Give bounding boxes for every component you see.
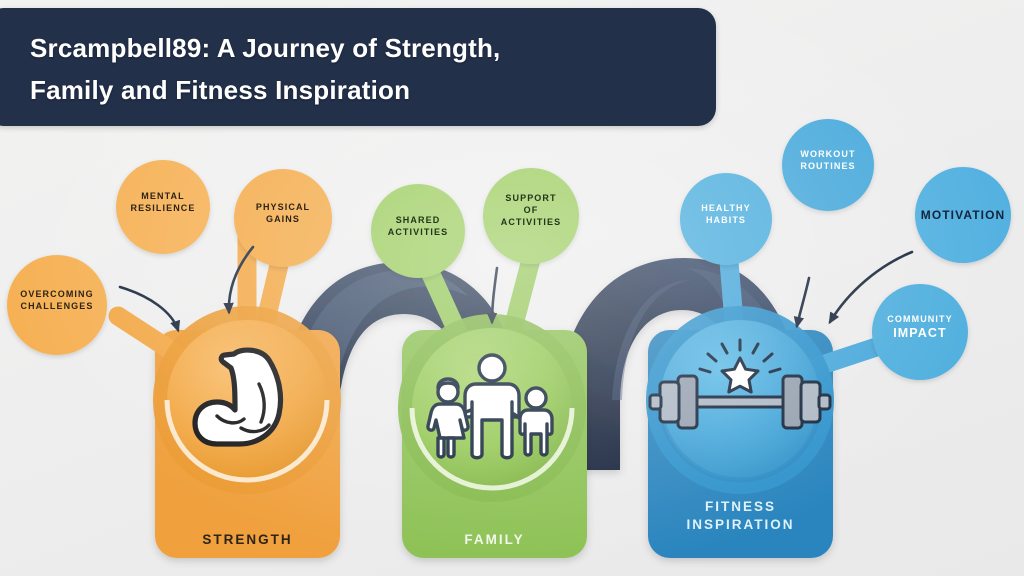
orb-healthy-habits [680,173,772,265]
page-title-line-2: Family and Fitness Inspiration [30,70,670,112]
infographic-canvas: Srcampbell89: A Journey of Strength, Fam… [0,0,1024,576]
page-title-line-1: Srcampbell89: A Journey of Strength, [30,28,670,70]
arrow-workout-to-core [797,278,809,326]
arrow-support-to-core [492,268,497,322]
satellite-orbs-family [371,168,579,278]
orb-community-impact [872,284,968,380]
orb-mental-resilience [116,160,210,254]
orb-shared-activities [371,184,465,278]
pillar-strength[interactable] [118,238,341,558]
orb-workout-routines [782,119,874,211]
orb-motivation [915,167,1011,263]
orb-support-of-activities [483,168,579,264]
page-title: Srcampbell89: A Journey of Strength, Fam… [30,28,670,111]
header-banner: Srcampbell89: A Journey of Strength, Fam… [0,8,716,126]
orb-overcoming-challenges [7,255,107,355]
